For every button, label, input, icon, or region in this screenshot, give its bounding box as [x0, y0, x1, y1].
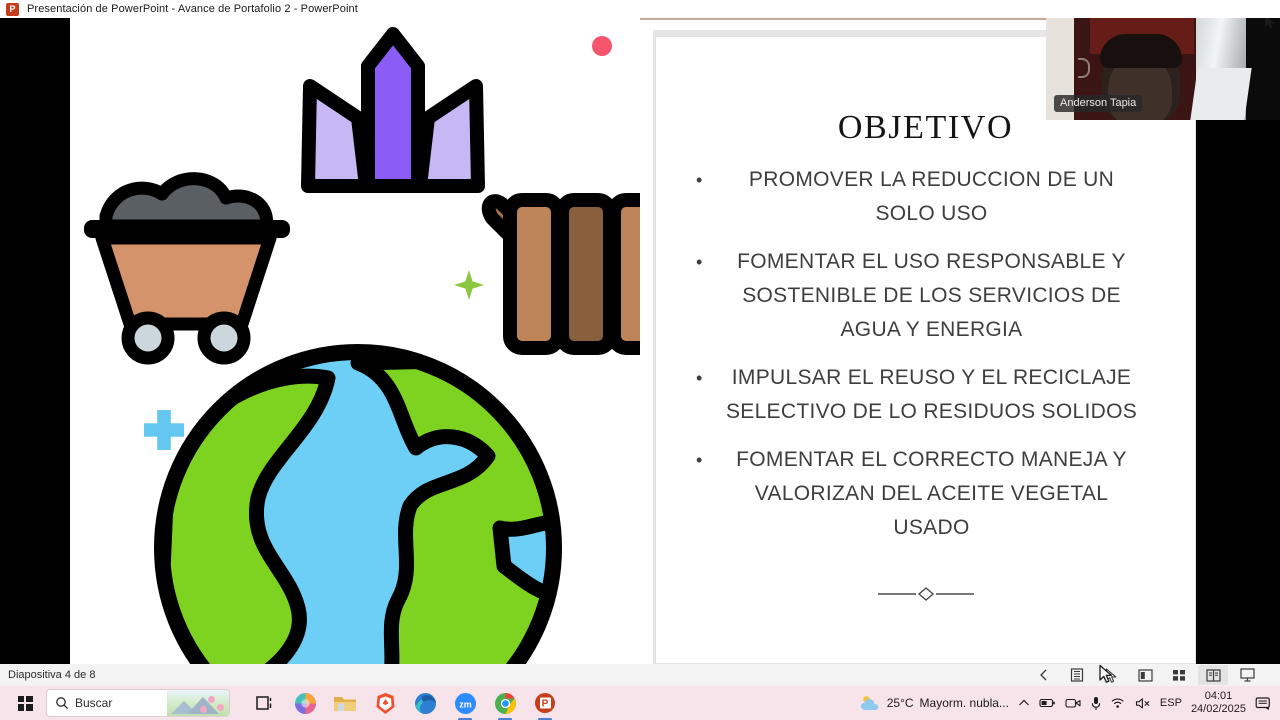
copilot-button[interactable]: [292, 690, 318, 716]
powerpoint-button[interactable]: P: [532, 690, 558, 716]
diamond-ornament-icon: [876, 587, 976, 601]
window-title: Presentación de PowerPoint - Avance de P…: [27, 3, 358, 15]
camera-button[interactable]: [1065, 697, 1081, 709]
weather-condition: Mayorm. nubla...: [920, 696, 1009, 710]
reading-view-button[interactable]: [1198, 665, 1228, 685]
slideshow-button[interactable]: [1232, 665, 1262, 685]
powerpoint-icon: P: [6, 3, 19, 16]
wifi-icon: [1111, 697, 1126, 709]
slideshow-stage: OBJETIVO PROMOVER LA REDUCCION DE UN SOL…: [0, 18, 1280, 664]
volume-button[interactable]: [1135, 697, 1151, 710]
zoom-button[interactable]: zm: [452, 690, 478, 716]
microphone-icon: [1090, 696, 1102, 711]
previous-slide-button[interactable]: [1028, 665, 1058, 685]
search-icon: [55, 696, 69, 710]
partly-cloudy-icon: [859, 694, 881, 712]
powerpoint-status-bar: Diapositiva 4 de 8: [0, 664, 1280, 686]
chrome-icon: [494, 692, 517, 715]
brave-icon: [375, 692, 396, 715]
normal-view-button[interactable]: [1130, 665, 1160, 685]
window-title-bar: P Presentación de PowerPoint - Avance de…: [0, 0, 1280, 18]
file-explorer-button[interactable]: [332, 690, 358, 716]
battery-button[interactable]: [1039, 697, 1056, 709]
slide-bullet-list: PROMOVER LA REDUCCION DE UN SOLO USO FOM…: [688, 163, 1163, 545]
pink-dot-decoration: [592, 36, 612, 56]
earth-globe-icon: [148, 338, 568, 664]
windows-taskbar: Buscar: [0, 686, 1280, 720]
notes-icon: [1070, 668, 1084, 682]
screen: P Presentación de PowerPoint - Avance de…: [0, 0, 1280, 720]
show-hidden-icons-button[interactable]: [1018, 698, 1030, 708]
task-view-button[interactable]: [252, 690, 278, 716]
mouse-cursor-icon: [1098, 664, 1114, 684]
battery-icon: [1039, 697, 1056, 709]
svg-text:zm: zm: [459, 699, 472, 709]
weather-temperature: 25°C: [887, 696, 914, 710]
clock[interactable]: 04:01 24/02/2025: [1191, 690, 1246, 716]
slide-sorter-button[interactable]: [1164, 665, 1194, 685]
clock-time: 04:01: [1191, 690, 1246, 703]
language-indicator[interactable]: ESP: [1160, 697, 1182, 709]
search-input[interactable]: Buscar: [46, 689, 230, 717]
bullet-item: FOMENTAR EL USO RESPONSABLE Y SOSTENIBLE…: [688, 245, 1163, 347]
bullet-item: PROMOVER LA REDUCCION DE UN SOLO USO: [688, 163, 1163, 231]
edge-icon: [414, 692, 437, 715]
speaker-muted-icon: [1135, 697, 1151, 710]
clock-date: 24/02/2025: [1191, 703, 1246, 716]
svg-text:P: P: [542, 699, 549, 710]
brave-button[interactable]: [372, 690, 398, 716]
reading-view-icon: [1206, 669, 1221, 682]
bullet-item: IMPULSAR EL REUSO Y EL RECICLAJE SELECTI…: [688, 361, 1163, 429]
search-placeholder: Buscar: [75, 696, 112, 710]
status-bar-buttons: [1028, 665, 1280, 685]
slideshow-icon: [1240, 668, 1255, 682]
chevron-left-icon: [1038, 669, 1049, 681]
microphone-button[interactable]: [1090, 696, 1102, 711]
slide-canvas[interactable]: OBJETIVO PROMOVER LA REDUCCION DE UN SOL…: [70, 18, 1196, 664]
notifications-button[interactable]: [1255, 696, 1272, 711]
webcam-participant-name: Anderson Tapia: [1054, 95, 1142, 112]
taskbar-system-tray: 25°C Mayorm. nubla...: [859, 690, 1280, 716]
camera-icon: [1065, 697, 1081, 709]
zoom-icon: zm: [454, 692, 477, 715]
bullet-item: FOMENTAR EL CORRECTO MANEJA Y VALORIZAN …: [688, 443, 1163, 545]
notifications-icon: [1255, 696, 1272, 711]
chrome-button[interactable]: [492, 690, 518, 716]
start-button[interactable]: [8, 688, 42, 718]
search-decoration-image: [167, 690, 229, 716]
chevron-up-icon: [1018, 698, 1030, 708]
network-button[interactable]: [1111, 697, 1126, 709]
windows-logo-icon: [18, 696, 33, 711]
powerpoint-icon: P: [534, 692, 556, 714]
notes-view-button[interactable]: [1062, 665, 1092, 685]
webcam-person-hair: [1100, 34, 1182, 68]
webcam-thumbnail[interactable]: Anderson Tapia: [1046, 18, 1280, 120]
crystal-cluster-icon: [288, 26, 498, 201]
slide-counter: Diapositiva 4 de 8: [0, 669, 95, 681]
folder-icon: [333, 693, 357, 713]
taskbar-app-list: zm P: [252, 690, 558, 716]
webcam-person-shirt: [1190, 68, 1251, 120]
webcam-door-handle: [1078, 58, 1090, 78]
copilot-icon: [294, 692, 317, 715]
cursor-arrow-icon: [1264, 18, 1276, 30]
normal-view-icon: [1138, 669, 1153, 682]
slide-illustration: [70, 18, 640, 664]
edge-button[interactable]: [412, 690, 438, 716]
task-view-icon: [255, 694, 275, 712]
text-card: OBJETIVO PROMOVER LA REDUCCION DE UN SOL…: [655, 36, 1196, 664]
weather-widget[interactable]: 25°C Mayorm. nubla...: [859, 694, 1009, 712]
grid-icon: [1172, 669, 1186, 682]
